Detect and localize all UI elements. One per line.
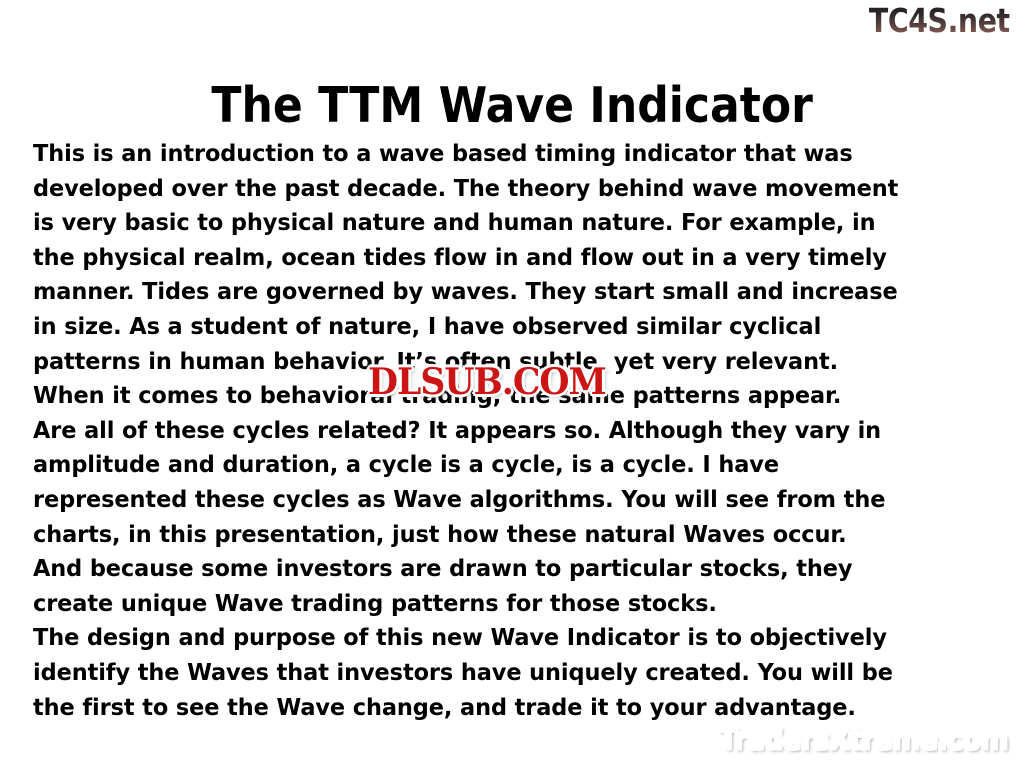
body-text-block: This is an introduction to a wave based … [33, 136, 1001, 724]
tradersxtreme-brand-text: TradersXtreme.com [719, 722, 1008, 756]
body-line: create unique Wave trading patterns for … [33, 586, 957, 621]
body-line: This is an introduction to a wave based … [33, 136, 957, 171]
body-line: And because some investors are drawn to … [33, 551, 957, 586]
body-line: the first to see the Wave change, and tr… [33, 690, 957, 725]
body-line: manner. Tides are governed by waves. The… [33, 274, 957, 309]
body-line: charts, in this presentation, just how t… [33, 517, 957, 552]
body-line: represented these cycles as Wave algorit… [33, 482, 957, 517]
tradersxtreme-brand-logo: TradersXtreme.com [719, 722, 1008, 756]
body-line: the physical realm, ocean tides flow in … [33, 240, 957, 275]
body-line: developed over the past decade. The theo… [33, 171, 957, 206]
page-title: The TTM Wave Indicator [0, 77, 1024, 135]
presentation-slide: TC4S.net The TTM Wave Indicator This is … [0, 0, 1024, 768]
tc4s-brand-logo: TC4S.net [869, 2, 1010, 40]
body-line: Are all of these cycles related? It appe… [33, 413, 957, 448]
body-paragraph: This is an introduction to a wave based … [33, 136, 1001, 724]
dlsub-watermark: DLSUB.COM [368, 362, 606, 402]
body-line: in size. As a student of nature, I have … [33, 309, 957, 344]
body-line: The design and purpose of this new Wave … [33, 620, 957, 655]
page-title-text: The TTM Wave Indicator [211, 77, 813, 135]
body-line: identify the Waves that investors have u… [33, 655, 957, 690]
body-line: amplitude and duration, a cycle is a cyc… [33, 447, 957, 482]
body-line: is very basic to physical nature and hum… [33, 205, 957, 240]
